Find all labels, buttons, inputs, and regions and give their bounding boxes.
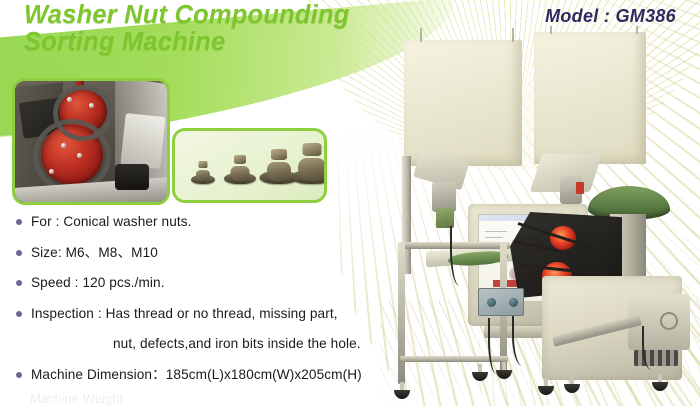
screen-text-line — [485, 237, 503, 238]
cut-off-text: Machine Weight — [30, 391, 123, 406]
washer-nut-sorting-machine-photo — [392, 26, 700, 406]
conical-washer-nuts-photo — [172, 128, 327, 203]
spec-text: For : Conical washer nuts. — [31, 212, 192, 231]
spec-item-machine-dimension: Machine Dimension：185cm(L)x180cm(W)x205c… — [16, 365, 408, 384]
spec-item-application: For : Conical washer nuts. — [16, 212, 408, 231]
control-panel[interactable] — [478, 288, 524, 316]
machine-closeup-photo — [12, 78, 170, 205]
spec-text: Size: M6、M8、M10 — [31, 243, 158, 262]
product-brochure-page: Washer Nut Compounding Sorting Machine M… — [0, 0, 700, 406]
bullet-icon — [16, 280, 22, 286]
bullet-icon — [16, 372, 22, 378]
bullet-icon — [16, 311, 22, 317]
spec-item-inspection-continuation: nut, defects,and iron bits inside the ho… — [31, 334, 408, 353]
washer-nut-m6 — [189, 162, 217, 184]
leveling-foot — [652, 382, 668, 391]
washer-nut-large — [295, 144, 327, 184]
cable-bundle — [450, 226, 466, 286]
closeup-pin — [67, 97, 72, 102]
closeup-white-block — [120, 113, 165, 169]
washer-nut-m8 — [223, 156, 257, 184]
closeup-pin — [89, 103, 94, 108]
spec-text: Inspection : Has thread or no thread, mi… — [31, 304, 338, 323]
title-line-1: Washer Nut Compounding — [24, 2, 444, 29]
leveling-foot — [564, 384, 580, 393]
light-box-enclosure-right — [534, 32, 646, 164]
screen-text-line — [485, 231, 507, 232]
spec-text: Machine Dimension：185cm(L)x180cm(W)x205c… — [31, 365, 362, 384]
model-number-label: Model : GM386 — [545, 6, 676, 27]
green-camera-mount — [436, 208, 454, 228]
leveling-foot — [496, 370, 512, 379]
leveling-foot — [538, 386, 554, 395]
closeup-pin — [49, 169, 54, 174]
cable-bundle — [488, 318, 502, 374]
hanger-rod — [636, 26, 638, 34]
leveling-foot — [472, 372, 488, 381]
closeup-pin — [61, 143, 66, 148]
spec-item-size: Size: M6、M8、M10 — [16, 243, 408, 262]
spec-item-speed: Speed : 120 pcs./min. — [16, 273, 408, 292]
cable-bundle — [642, 326, 658, 370]
specification-list: For : Conical washer nuts. Size: M6、M8、M… — [16, 212, 408, 395]
bullet-icon — [16, 219, 22, 225]
adjustment-knob-ring — [660, 312, 678, 330]
control-knob[interactable] — [509, 298, 518, 307]
title-line-2: Sorting Machine — [24, 29, 444, 56]
indicator-lamp — [576, 182, 584, 194]
cable-bundle — [512, 316, 530, 366]
spec-item-inspection: Inspection : Has thread or no thread, mi… — [16, 304, 408, 323]
light-box-enclosure-left — [404, 40, 522, 166]
hanger-rod — [550, 26, 552, 34]
control-knob[interactable] — [487, 298, 496, 307]
spec-text: Speed : 120 pcs./min. — [31, 273, 165, 292]
closeup-cylinder — [115, 164, 149, 190]
closeup-pin — [77, 153, 82, 158]
page-title: Washer Nut Compounding Sorting Machine — [24, 2, 444, 56]
spec-text: nut, defects,and iron bits inside the ho… — [31, 334, 408, 353]
hanger-rod — [512, 28, 514, 42]
bullet-icon — [16, 250, 22, 256]
